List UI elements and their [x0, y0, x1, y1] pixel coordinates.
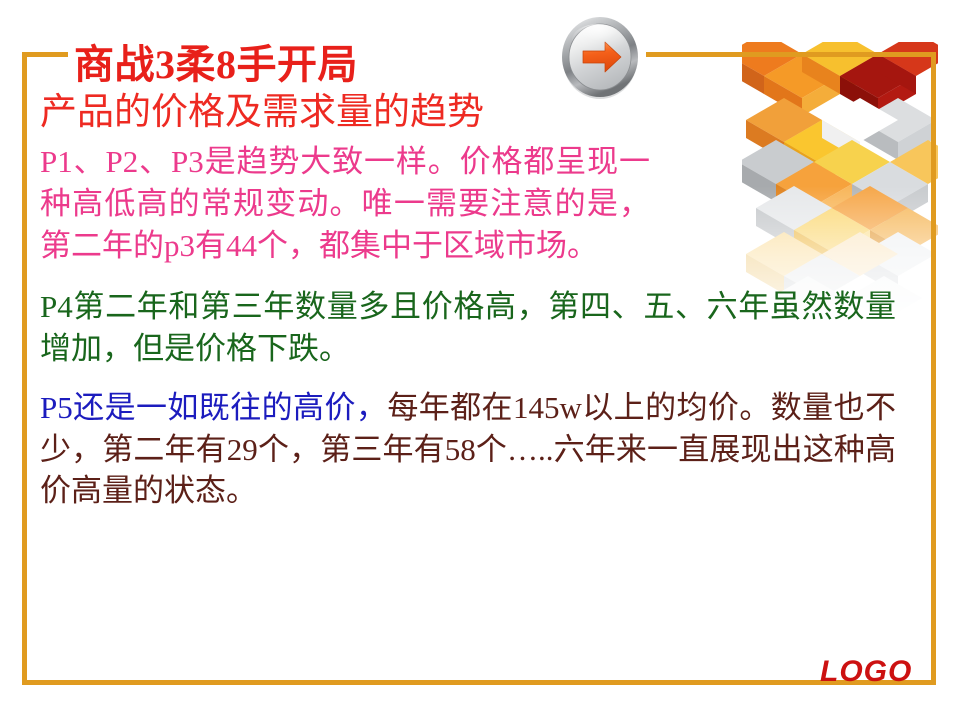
slide-content: 商战3柔8手开局 产品的价格及需求量的趋势 P1、P2、P3是趋势大致一样。价格… [36, 44, 926, 524]
paragraph-p5: P5还是一如既往的高价，每年都在145w以上的均价。数量也不少，第二年有29个，… [40, 387, 896, 512]
frame-right-segment [931, 52, 936, 685]
frame-bottom-segment [22, 680, 936, 685]
logo: LOGO [820, 655, 912, 689]
page-title: 商战3柔8手开局 [74, 44, 926, 86]
paragraph-p4: P4第二年和第三年数量多且价格高，第四、五、六年虽然数量增加，但是价格下跌。 [40, 286, 896, 369]
frame-left-segment [22, 52, 27, 685]
paragraph-p1: P1、P2、P3是趋势大致一样。价格都呈现一种高低高的常规变动。唯一需要注意的是… [40, 141, 650, 266]
slide-canvas: 商战3柔8手开局 产品的价格及需求量的趋势 P1、P2、P3是趋势大致一样。价格… [0, 0, 960, 720]
page-subtitle: 产品的价格及需求量的趋势 [40, 92, 926, 133]
paragraph-p5-lead: P5还是一如既往的高价， [40, 390, 387, 425]
